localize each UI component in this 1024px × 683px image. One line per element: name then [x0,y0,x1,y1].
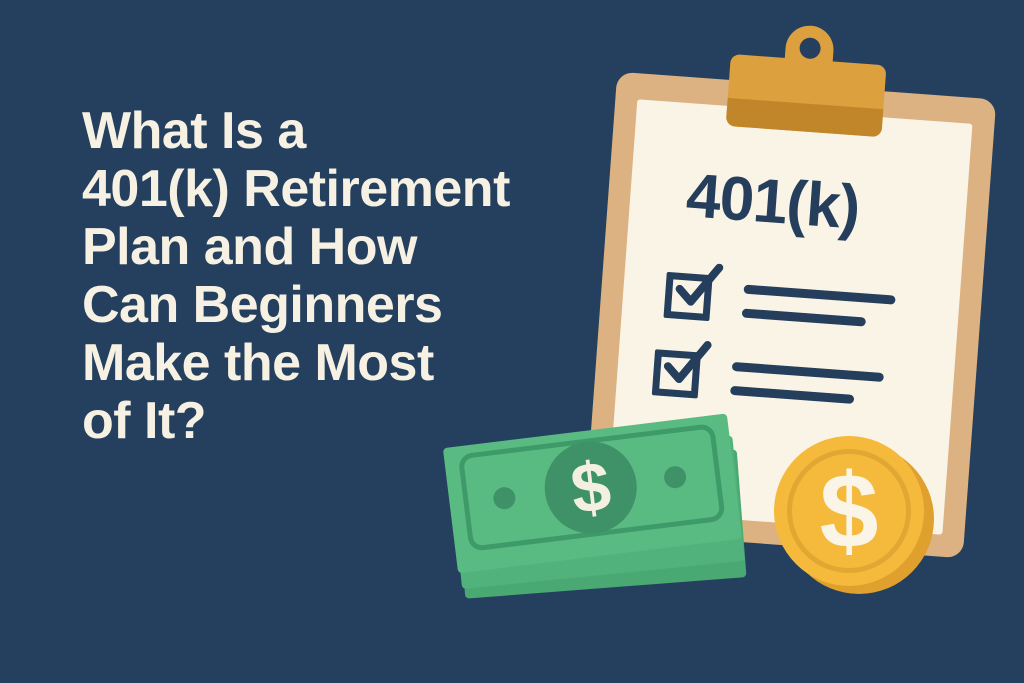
checkmark-icon [670,260,728,318]
page-title: What Is a 401(k) Retirement Plan and How… [82,102,642,450]
clipboard-paper-title: 401(k) [684,165,861,240]
dollar-sign-icon: $ [539,436,642,539]
checkmark-icon [658,338,716,396]
hero-graphic-canvas: What Is a 401(k) Retirement Plan and How… [0,0,1024,683]
coin-illustration: $ [772,434,940,602]
dollar-sign-icon: $ [774,436,924,586]
